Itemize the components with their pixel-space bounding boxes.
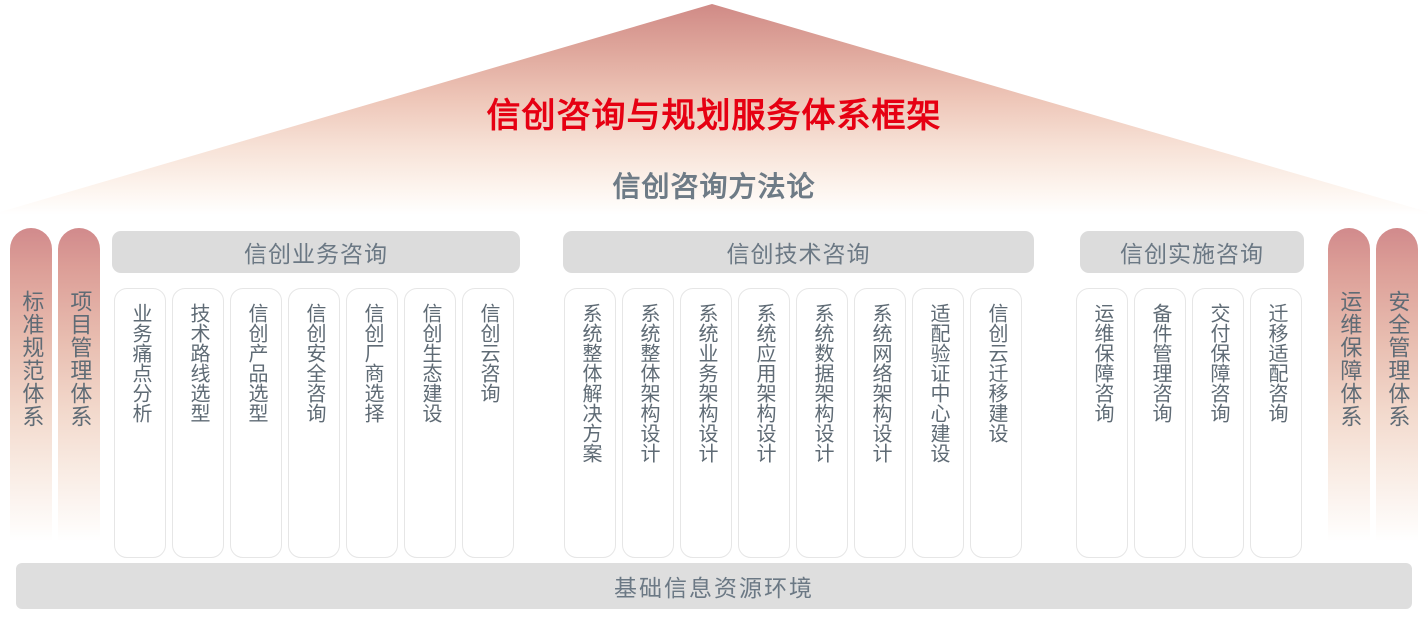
item-label: 信创安全咨询 bbox=[303, 303, 325, 423]
item-label: 系统整体架构设计 bbox=[637, 303, 659, 463]
pillar-ops-assurance: 运维保障体系 bbox=[1328, 228, 1370, 558]
item-label: 系统整体解决方案 bbox=[579, 303, 601, 463]
item-label: 信创厂商选择 bbox=[361, 303, 383, 423]
item-label: 迁移适配咨询 bbox=[1265, 303, 1287, 423]
item-label: 运维保障咨询 bbox=[1091, 303, 1113, 423]
page-subtitle: 信创咨询方法论 bbox=[0, 170, 1428, 204]
group-header-label: 信创技术咨询 bbox=[727, 235, 871, 269]
item-card[interactable]: 系统整体解决方案 bbox=[564, 288, 616, 558]
pillar-security-management: 安全管理体系 bbox=[1376, 228, 1418, 558]
group-header-implementation-consulting[interactable]: 信创实施咨询 bbox=[1080, 231, 1304, 273]
item-label: 系统应用架构设计 bbox=[753, 303, 775, 463]
item-card[interactable]: 系统网络架构设计 bbox=[854, 288, 906, 558]
item-card[interactable]: 交付保障咨询 bbox=[1192, 288, 1244, 558]
item-label: 系统数据架构设计 bbox=[811, 303, 833, 463]
item-card[interactable]: 系统整体架构设计 bbox=[622, 288, 674, 558]
pillar-label: 项目管理体系 bbox=[67, 290, 92, 428]
item-card[interactable]: 业务痛点分析 bbox=[114, 288, 166, 558]
item-label: 系统业务架构设计 bbox=[695, 303, 717, 463]
item-card[interactable]: 系统业务架构设计 bbox=[680, 288, 732, 558]
item-label: 适配验证中心建设 bbox=[927, 303, 949, 463]
item-card[interactable]: 迁移适配咨询 bbox=[1250, 288, 1302, 558]
item-label: 信创产品选型 bbox=[245, 303, 267, 423]
group-header-label: 信创业务咨询 bbox=[244, 235, 388, 269]
diagram-canvas: 信创咨询与规划服务体系框架 信创咨询方法论 标准规范体系 项目管理体系 运维保障… bbox=[0, 0, 1428, 627]
item-card[interactable]: 技术路线选型 bbox=[172, 288, 224, 558]
item-card[interactable]: 信创云迁移建设 bbox=[970, 288, 1022, 558]
item-label: 信创云迁移建设 bbox=[985, 303, 1007, 443]
item-label: 交付保障咨询 bbox=[1207, 303, 1229, 423]
pillar-label: 运维保障体系 bbox=[1337, 290, 1362, 428]
item-card[interactable]: 信创生态建设 bbox=[404, 288, 456, 558]
item-card[interactable]: 备件管理咨询 bbox=[1134, 288, 1186, 558]
item-card[interactable]: 信创产品选型 bbox=[230, 288, 282, 558]
item-card[interactable]: 信创厂商选择 bbox=[346, 288, 398, 558]
pillar-label: 标准规范体系 bbox=[19, 290, 44, 428]
page-title: 信创咨询与规划服务体系框架 bbox=[0, 96, 1428, 136]
item-card[interactable]: 系统数据架构设计 bbox=[796, 288, 848, 558]
pillar-project-management: 项目管理体系 bbox=[58, 228, 100, 558]
pillar-label: 安全管理体系 bbox=[1385, 290, 1410, 428]
item-card[interactable]: 运维保障咨询 bbox=[1076, 288, 1128, 558]
item-label: 技术路线选型 bbox=[187, 303, 209, 423]
base-bar-label: 基础信息资源环境 bbox=[614, 569, 814, 603]
item-label: 信创云咨询 bbox=[477, 303, 499, 403]
item-label: 信创生态建设 bbox=[419, 303, 441, 423]
item-label: 业务痛点分析 bbox=[129, 303, 151, 423]
item-label: 备件管理咨询 bbox=[1149, 303, 1171, 423]
item-card[interactable]: 信创云咨询 bbox=[462, 288, 514, 558]
item-card[interactable]: 适配验证中心建设 bbox=[912, 288, 964, 558]
item-card[interactable]: 系统应用架构设计 bbox=[738, 288, 790, 558]
pillar-standard-spec: 标准规范体系 bbox=[10, 228, 52, 558]
item-label: 系统网络架构设计 bbox=[869, 303, 891, 463]
group-header-technical-consulting[interactable]: 信创技术咨询 bbox=[563, 231, 1034, 273]
base-infrastructure-bar: 基础信息资源环境 bbox=[16, 563, 1412, 609]
group-header-business-consulting[interactable]: 信创业务咨询 bbox=[112, 231, 520, 273]
item-card[interactable]: 信创安全咨询 bbox=[288, 288, 340, 558]
group-header-label: 信创实施咨询 bbox=[1120, 235, 1264, 269]
